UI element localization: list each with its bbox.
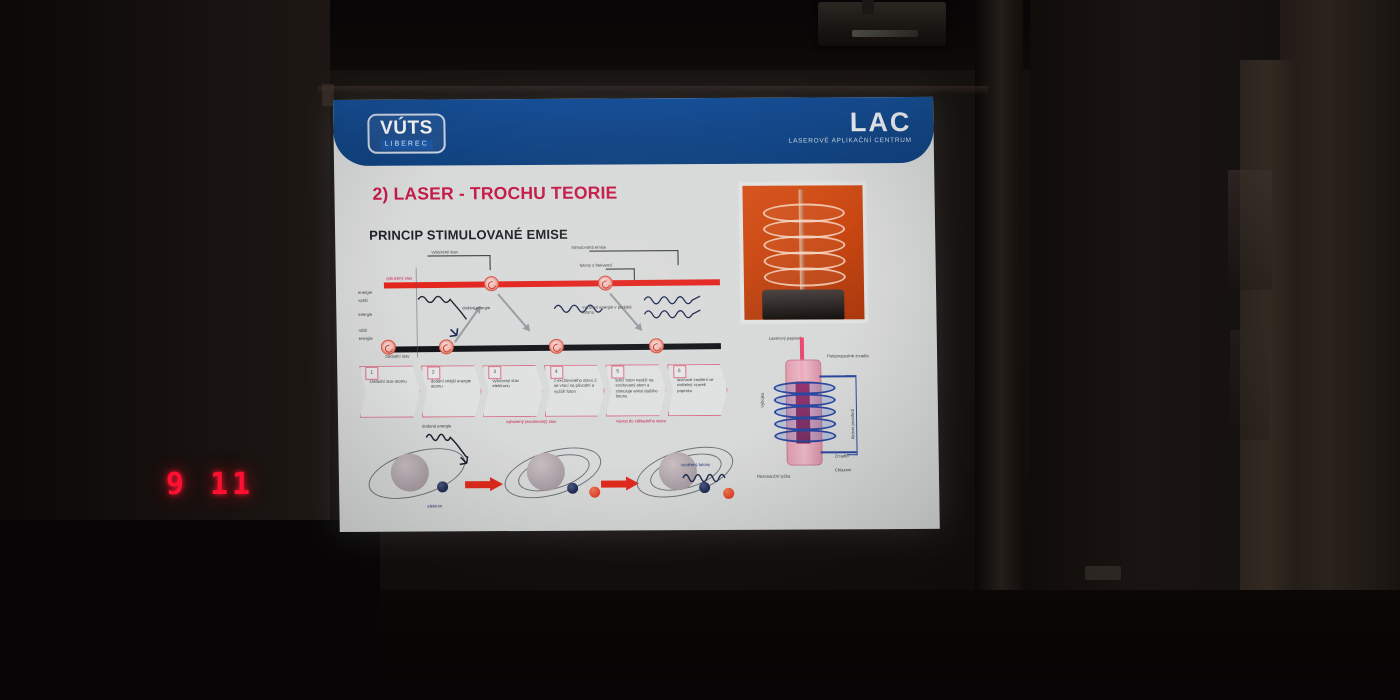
wall-sign [1085,566,1121,580]
axis-label-lower: nižší [359,328,368,333]
electron-ground [437,481,448,492]
atom-sequence: dodaná energie vybuzený (excitovaný) sta… [360,418,730,516]
slide-title: 2) LASER - TROCHU TEORIE [372,183,617,205]
lamp-coil [764,267,846,286]
callout-leader-1 [427,255,490,270]
step-text: z excitovaného stavu 2 se vrací na původ… [554,378,599,394]
atom-ground-3 [649,338,664,353]
lac-logo-name: LAC [788,109,911,137]
step-number: 1 [365,367,378,380]
label-cooling: Chlazení [835,467,852,472]
atom-nucleus [391,453,430,491]
atom-ground-2 [549,339,564,354]
sequence-arrow-1 [465,481,491,488]
vuts-logo-name: VÚTS [380,118,433,137]
projection-screen: VÚTS LIBEREC LAC LASEROVÉ APLIKAČNÍ CENT… [333,97,940,532]
step-item: 4 z excitovaného stavu 2 se vrací na pův… [544,365,605,417]
label-excited-state-seq: vybuzený (excitovaný) stav [506,419,560,425]
ceiling-projector [818,2,946,46]
label-resonator-rod: Rezonanční tyčka [757,474,790,480]
flash-lamp-photo-inner [742,185,864,320]
arrow-spontaneous-emission [497,293,530,331]
label-output-mirror: Polopropustné zrcadlo [827,353,869,359]
atom-stage-2 [500,441,605,504]
arrow-absorption [454,306,481,343]
atom-excited-2 [598,276,613,291]
excited-state-level [384,279,720,288]
label-excited-state: vybuzený stav [386,276,413,282]
foreground-shadow [0,520,380,700]
step-number: 5 [611,365,624,378]
label-photon-emission: vyzáření energie v podobě fotonu [582,304,632,315]
wall-fixture-lower [1230,330,1270,440]
atom-nucleus [527,453,566,491]
step-text: lavinové zesílení ve světelný vzorek pap… [677,377,722,393]
step-item: 6 lavinové zesílení ve světelný vzorek p… [667,364,728,416]
flash-lamp-photo [738,181,868,324]
label-emitted-photons: vyzářený fotony [681,462,710,468]
step-number: 3 [488,366,501,379]
axis-label-higher: vyšší [358,298,384,304]
lamp-base [762,289,844,319]
step-text: vybuzený stav elektronu [492,378,537,389]
step-text: dodání vnější energie atomu [431,378,476,389]
emitted-photon-wave [681,468,737,492]
led-clock-display: 9 11 [160,462,260,506]
electron-excited [589,487,600,498]
step-number: 2 [427,366,440,379]
lac-logo-subtitle: LASEROVÉ APLIKAČNÍ CENTRUM [789,137,912,145]
axis-label-lowest: energie [359,336,373,341]
label-electron: elektron [427,503,442,508]
laser-cavity-diagram: Laserový paprsek Polopropustné zrcadlo V… [741,335,879,488]
atom-ground-0 [381,340,396,355]
projector-mount [862,0,874,14]
callout-photon-frequency: fotony s frekvencí [580,263,613,269]
callout-stimulated-emission: stimulovaná emise [571,245,606,251]
step-item: 5 letící foton naráží na excitovaný atom… [605,364,666,416]
energy-axis [416,268,418,358]
vuts-logo: VÚTS LIBEREC [367,113,446,153]
step-number: 4 [550,366,563,379]
led-clock-value: 9 11 [166,467,254,502]
incoming-photon-wave [424,431,485,471]
label-supplied-energy: dodaná energie [422,423,451,429]
callout-excited-state: vybuzený stav [431,249,458,255]
axis-label-mid: energie [358,312,372,317]
presentation-slide: VÚTS LIBEREC LAC LASEROVÉ APLIKAČNÍ CENT… [333,97,940,532]
sequence-arrow-2 [601,480,627,487]
lecture-room-scene: 9 11 VÚTS LIBEREC LAC LASEROVÉ APLIKAČNÍ… [0,0,1400,700]
label-flash-lamp: Výbojka [760,393,766,408]
atom-ground-1 [439,339,454,354]
vuts-logo-subtitle: LIBEREC [381,139,433,149]
step-text: letící foton naráží na excitovaný atom a… [615,377,660,398]
electron-ground [567,483,578,494]
atom-excited-1 [484,276,499,291]
energy-level-diagram: vybuzený stav stimulovaná emise fotony s… [357,248,727,360]
step-item: 3 vybuzený stav elektronu [482,365,543,417]
slide-subtitle: PRINCIP STIMULOVANÉ EMISE [369,227,568,243]
step-item: 2 dodání vnější energie atomu [421,365,482,417]
projector-vent [852,30,918,37]
cavity-lamp-coil [774,429,836,442]
wall-fixture [1228,170,1272,290]
lac-logo: LAC LASEROVÉ APLIKAČNÍ CENTRUM [788,109,912,145]
process-steps: 1 základní stav atomu 2 dodání vnější en… [359,364,728,418]
step-number: 6 [673,365,686,378]
label-return-ground-state: návrat do základního stavu [616,418,674,424]
label-energy-input: dodání energie [462,305,490,311]
slide-header-bar: VÚTS LIBEREC LAC LASEROVÉ APLIKAČNÍ CENT… [333,97,934,166]
step-item: 1 základní stav atomu [359,366,420,418]
screen-mount-rail [318,86,988,94]
axis-label-upper: energie [358,290,384,296]
label-laser-beam: Laserový paprsek [769,336,802,342]
cavity-dimension-bracket [845,375,857,455]
